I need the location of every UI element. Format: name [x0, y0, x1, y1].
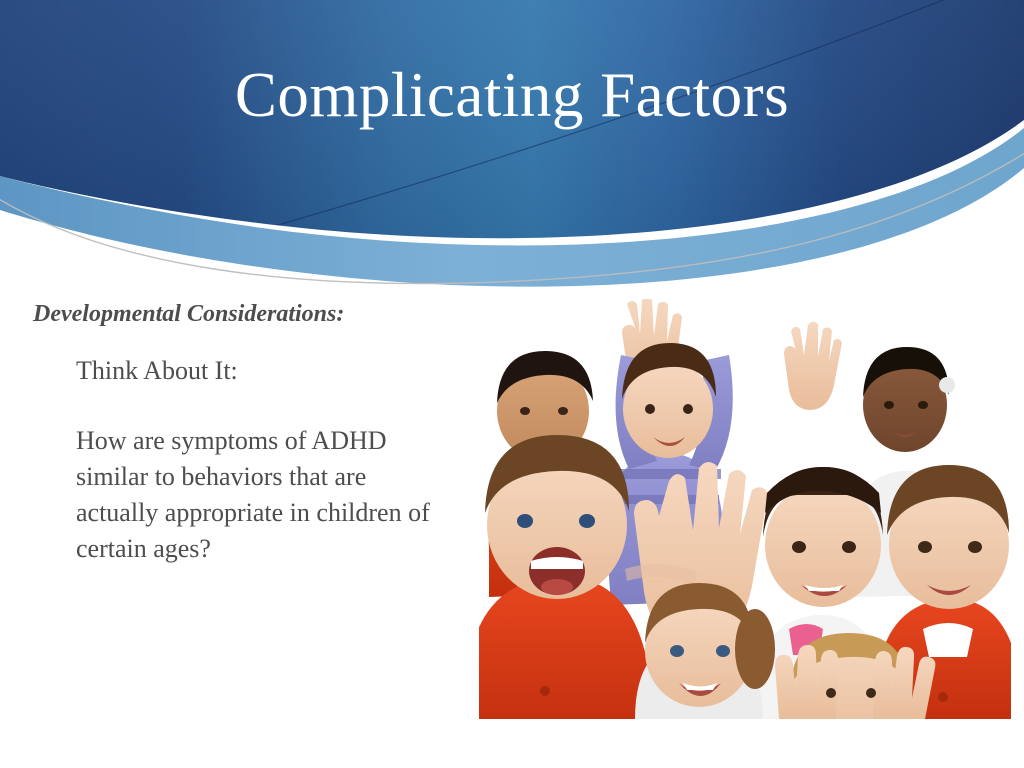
think-about-it-label: Think About It: [76, 355, 453, 388]
slide-canvas: Complicating Factors Developmental Consi… [0, 0, 1024, 768]
children-photo: Group of eight smiling young children of… [479, 299, 1011, 719]
children-photo-illustration [479, 299, 1011, 719]
page-title: Complicating Factors [0, 62, 1024, 128]
header-diagonal-hairline [0, 0, 1024, 300]
header-gray-arc [0, 150, 1024, 284]
content-text-column: Developmental Considerations: Think Abou… [33, 300, 453, 567]
considerations-heading: Developmental Considerations: [33, 300, 453, 329]
think-about-it-block: Think About It: How are symptoms of ADHD… [76, 355, 453, 567]
header-accent-band [0, 128, 1024, 287]
header-banner [0, 0, 1024, 300]
adhd-question-text: How are symptoms of ADHD similar to beha… [76, 423, 436, 567]
